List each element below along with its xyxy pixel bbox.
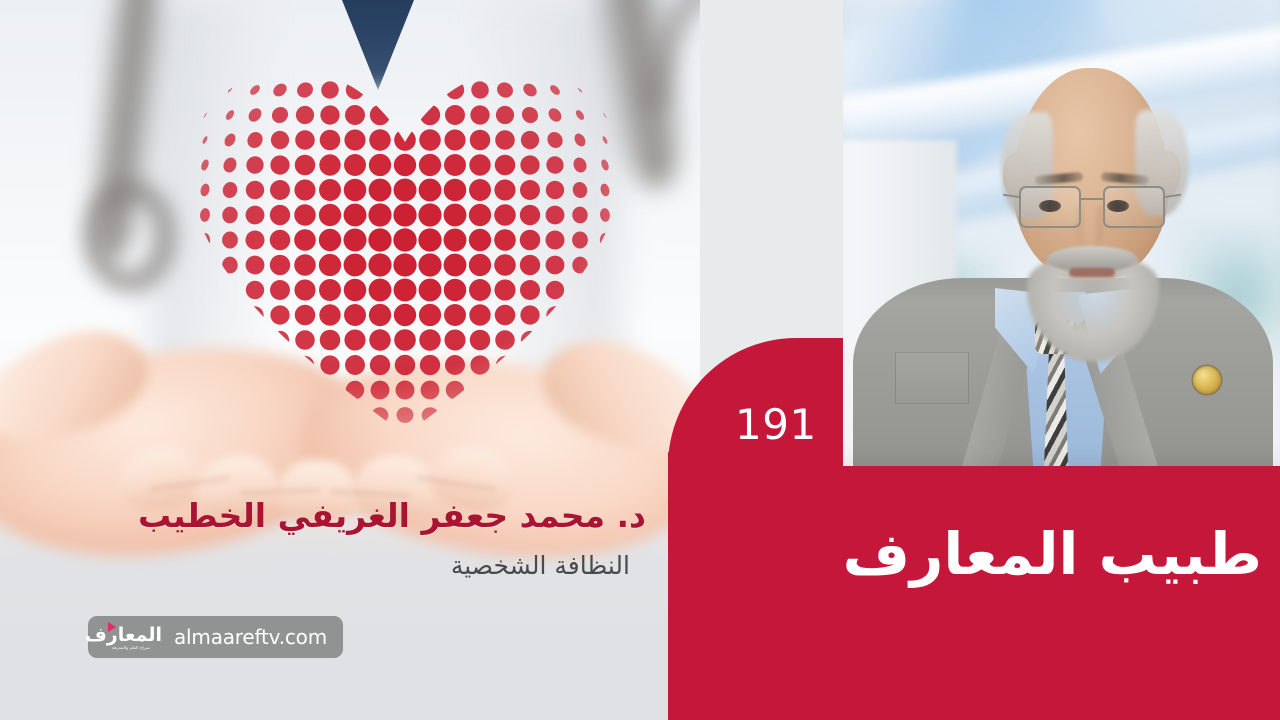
brand-badge[interactable]: المعارف سراج العلم والمعرفة almaareftv.c… — [88, 616, 343, 658]
lens-right — [1103, 186, 1165, 228]
guest-photo — [843, 0, 1280, 466]
glasses-bridge — [1081, 198, 1103, 200]
logo-tagline: سراج العلم والمعرفة — [112, 647, 150, 651]
lapel-pin-icon — [1193, 366, 1221, 394]
page-title: طبيب المعارف — [722, 524, 1262, 585]
lens-left — [1019, 186, 1081, 228]
stethoscope-loop-left — [84, 180, 176, 292]
almaaref-logo: المعارف سراج العلم والمعرفة — [100, 623, 162, 652]
halftone-heart-icon — [165, 50, 645, 450]
title-card: 191 طبيب المعارف د. محمد جعفر الغريفي ال… — [0, 0, 1280, 720]
suit-pocket — [895, 352, 969, 404]
eyeglasses-icon — [1019, 186, 1165, 232]
episode-subject: النظافة الشخصية — [451, 551, 630, 580]
logo-arabic-wordmark: المعارف — [85, 626, 162, 645]
brand-url[interactable]: almaareftv.com — [174, 625, 327, 649]
episode-number: 191 — [735, 404, 817, 446]
logo-wordmark-row: المعارف — [100, 623, 162, 645]
lower-lip — [1069, 268, 1115, 277]
doctor-name: د. محمد جعفر الغريفي الخطيب — [138, 496, 646, 535]
